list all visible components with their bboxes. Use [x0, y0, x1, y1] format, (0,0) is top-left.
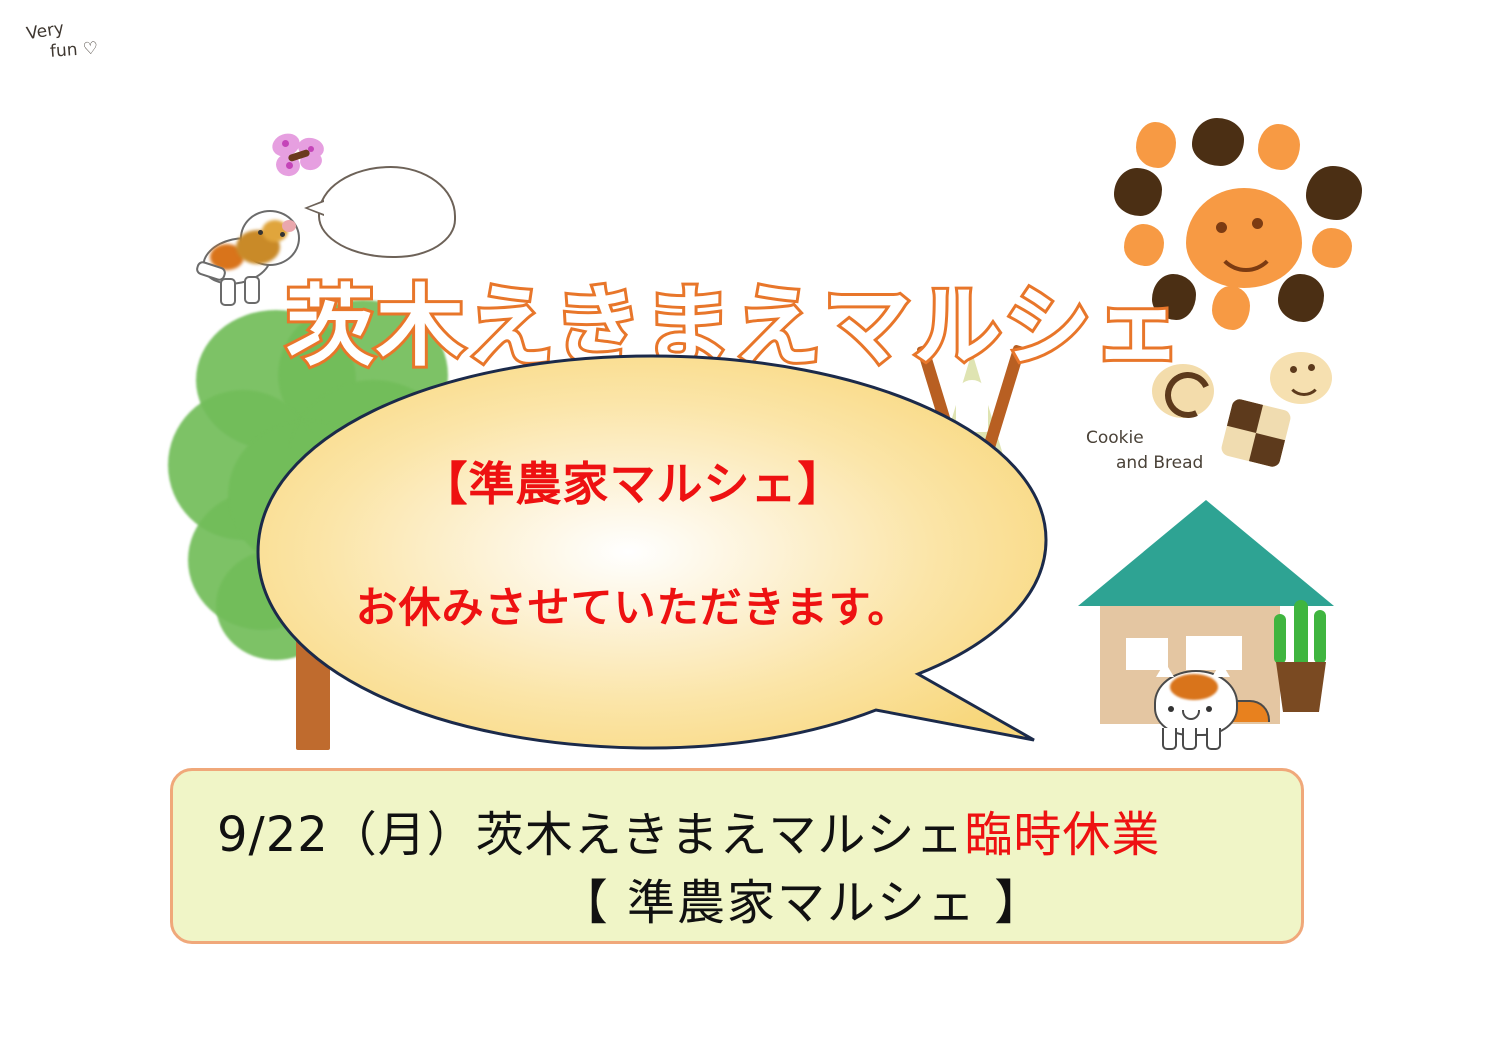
cat-bottom-right-icon [1148, 658, 1268, 750]
very-fun-speech-bubble [318, 166, 456, 258]
bubble-text-block: 【準農家マルシェ】 お休みさせていただきます。 [228, 448, 1038, 635]
info-line-1-highlight: 臨時休業 [964, 807, 1160, 863]
very-fun-line2: fun ♡ [49, 36, 132, 63]
cookie-label-line2: and Bread [1116, 451, 1236, 476]
info-line-2: 【 準農家マルシェ 】 [173, 863, 1301, 933]
potted-cactus-icon [1268, 600, 1334, 720]
cookie-label-line1: Cookie [1086, 426, 1236, 451]
bubble-line-2: お休みさせていただきます。 [228, 574, 1038, 635]
cookie-and-bread-label: Cookie and Bread [1086, 426, 1236, 475]
bubble-tail-icon [304, 200, 324, 216]
info-line-1-prefix: 9/22（月）茨木えきまえマルシェ [217, 807, 964, 863]
very-fun-text: Very fun ♡ [24, 16, 132, 61]
announcement-speech-bubble: 【準農家マルシェ】 お休みさせていただきます。 [228, 352, 1078, 752]
info-line-1: 9/22（月）茨木えきまえマルシェ臨時休業 [217, 795, 1160, 865]
poster-canvas: Very fun ♡ 茨木えきまえマルシェ [0, 0, 1496, 1058]
butterfly-icon [262, 130, 332, 186]
smiley-cookie-icon [1270, 352, 1332, 404]
bubble-line-1: 【準農家マルシェ】 [228, 448, 1038, 514]
info-box: 9/22（月）茨木えきまえマルシェ臨時休業 【 準農家マルシェ 】 [170, 768, 1304, 944]
